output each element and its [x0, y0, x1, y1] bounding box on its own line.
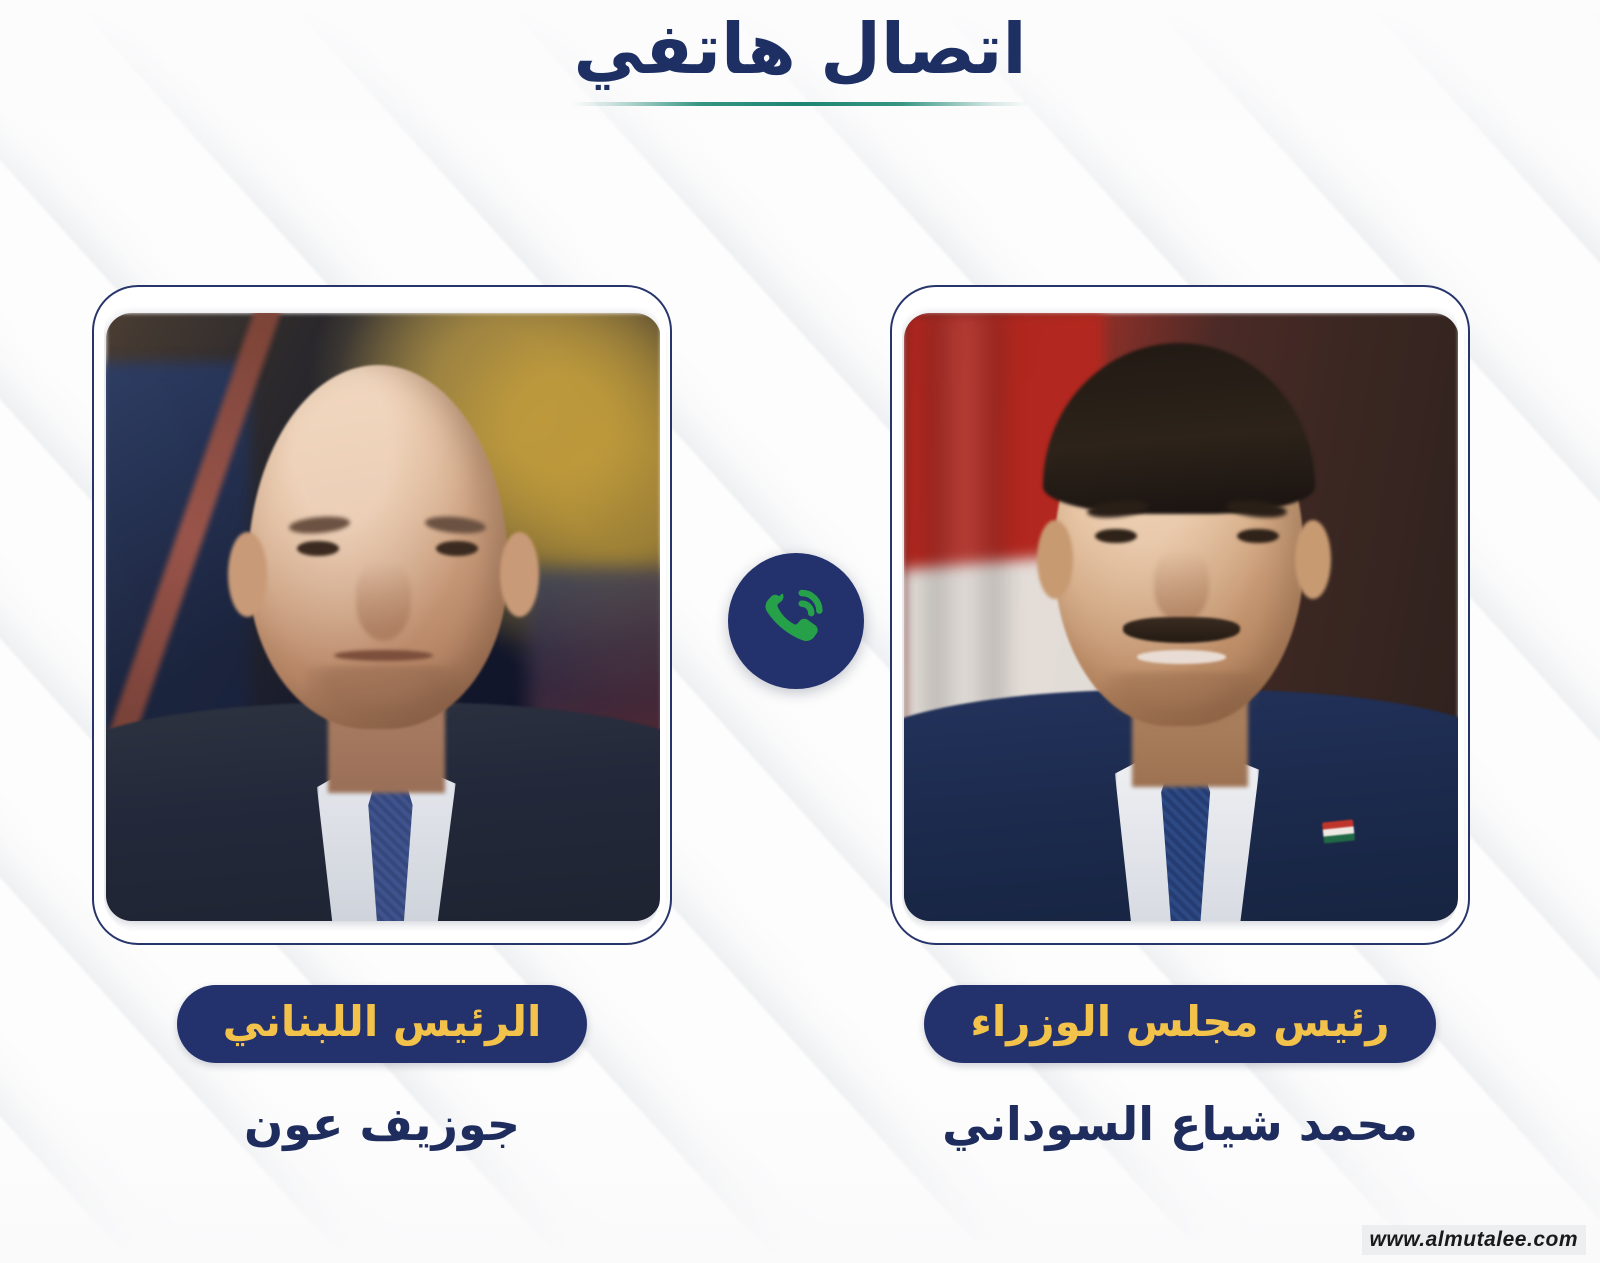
portrait-left: [106, 313, 661, 921]
portrait-right-ear-right: [1295, 520, 1331, 599]
portrait-left-chin: [306, 666, 461, 727]
site-watermark: www.almutalee.com: [1362, 1225, 1586, 1255]
person-name-right: محمد شياع السوداني: [880, 1099, 1480, 1150]
person-card-left: الرئيس اللبناني جوزيف عون: [82, 285, 682, 1150]
portrait-left-nose: [356, 562, 412, 641]
portrait-right-moustache: [1123, 617, 1240, 643]
portrait-right-ear-left: [1037, 520, 1073, 599]
role-badge-right: رئيس مجلس الوزراء: [924, 985, 1435, 1063]
people-stage: الرئيس اللبناني جوزيف عون: [0, 0, 1600, 1263]
portrait-left-ear-left: [228, 532, 267, 617]
portrait-right-chin: [1104, 672, 1259, 727]
portrait-right: [904, 313, 1459, 921]
phone-call-badge: [728, 553, 864, 689]
portrait-left-ear-right: [500, 532, 539, 617]
role-badge-left: الرئيس اللبناني: [177, 985, 588, 1063]
portrait-left-eye-right: [436, 541, 478, 556]
photo-frame-right: [890, 285, 1470, 945]
phone-call-announcement-poster: اتصال هاتفي: [0, 0, 1600, 1263]
person-name-left: جوزيف عون: [82, 1099, 682, 1150]
photo-frame-left: [92, 285, 672, 945]
phone-call-icon: [756, 581, 836, 661]
person-card-right: رئيس مجلس الوزراء محمد شياع السوداني: [880, 285, 1480, 1150]
portrait-right-mouth: [1137, 650, 1226, 663]
portrait-left-eye-left: [297, 541, 339, 556]
portrait-right-nose: [1154, 550, 1210, 623]
portrait-right-flag-lapel-pin: [1322, 820, 1355, 844]
